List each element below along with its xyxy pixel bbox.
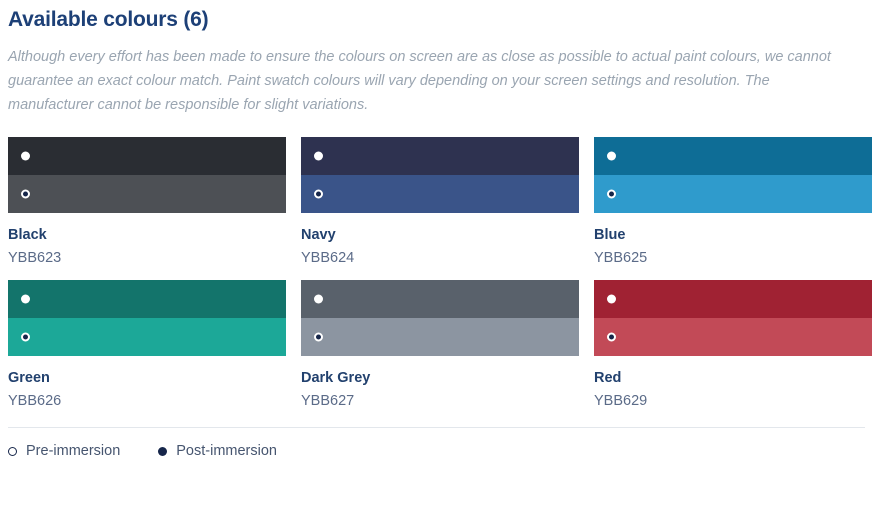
post-immersion-marker-icon [21,295,30,304]
legend-label: Post-immersion [176,441,277,461]
pre-immersion-band [8,318,286,356]
post-immersion-marker-icon [314,295,323,304]
colour-swatch-card[interactable]: Red YBB629 [594,280,872,411]
swatch-bands[interactable] [594,280,872,356]
pre-immersion-band [8,175,286,213]
pre-immersion-band [301,318,579,356]
post-immersion-band [8,137,286,175]
swatch-code: YBB629 [594,391,872,411]
swatch-name: Blue [594,225,872,245]
pre-immersion-marker-icon [607,333,616,342]
post-immersion-marker-icon [607,152,616,161]
swatch-code: YBB623 [8,248,286,268]
swatch-code: YBB626 [8,391,286,411]
colour-swatch-card[interactable]: Navy YBB624 [301,137,579,268]
immersion-legend: Pre-immersion Post-immersion [8,428,865,461]
colour-swatch-card[interactable]: Black YBB623 [8,137,286,268]
colour-accuracy-disclaimer: Although every effort has been made to e… [8,45,853,117]
page-title: Available colours (6) [8,6,865,34]
available-colours-panel: Available colours (6) Although every eff… [0,0,873,505]
swatch-code: YBB627 [301,391,579,411]
swatch-code: YBB624 [301,248,579,268]
pre-immersion-marker-icon [21,333,30,342]
swatch-bands[interactable] [8,280,286,356]
colour-swatch-grid: Black YBB623 Navy YBB624 [8,137,865,411]
legend-item-post-immersion: Post-immersion [158,441,277,461]
swatch-code: YBB625 [594,248,872,268]
swatch-name: Navy [301,225,579,245]
pre-immersion-marker-icon [21,190,30,199]
post-immersion-marker-icon [314,152,323,161]
colour-swatch-card[interactable]: Green YBB626 [8,280,286,411]
swatch-name: Dark Grey [301,368,579,388]
pre-immersion-marker-icon [607,190,616,199]
pre-immersion-band [301,175,579,213]
hollow-circle-icon [8,447,17,456]
pre-immersion-marker-icon [314,190,323,199]
post-immersion-marker-icon [21,152,30,161]
swatch-bands[interactable] [594,137,872,213]
swatch-bands[interactable] [301,137,579,213]
legend-item-pre-immersion: Pre-immersion [8,441,120,461]
pre-immersion-marker-icon [314,333,323,342]
post-immersion-band [594,137,872,175]
post-immersion-band [301,280,579,318]
swatch-bands[interactable] [301,280,579,356]
pre-immersion-band [594,175,872,213]
swatch-name: Red [594,368,872,388]
legend-label: Pre-immersion [26,441,120,461]
post-immersion-band [301,137,579,175]
pre-immersion-band [594,318,872,356]
swatch-bands[interactable] [8,137,286,213]
post-immersion-band [594,280,872,318]
swatch-name: Green [8,368,286,388]
swatch-name: Black [8,225,286,245]
post-immersion-band [8,280,286,318]
colour-swatch-card[interactable]: Blue YBB625 [594,137,872,268]
post-immersion-marker-icon [607,295,616,304]
filled-circle-icon [158,447,167,456]
colour-swatch-card[interactable]: Dark Grey YBB627 [301,280,579,411]
